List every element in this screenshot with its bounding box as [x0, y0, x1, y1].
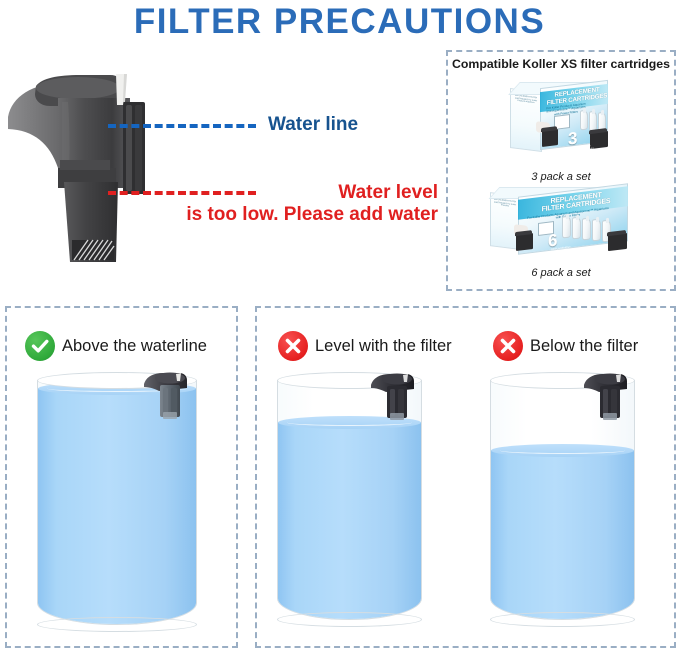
- incorrect-example-2-caption: Below the filter: [493, 331, 638, 361]
- cartridges-panel-heading: Compatible Koller XS filter cartridges: [448, 57, 674, 71]
- pack-item-3[interactable]: REPLACEMENT FILTER CARTRIDGES For Koller…: [448, 74, 674, 183]
- water-level-warning-line1: Water level: [338, 182, 438, 203]
- incorrect-example-2-label: Below the filter: [530, 337, 638, 356]
- cartridge-box-6: REPLACEMENT FILTER CARTRIDGES For Koller…: [486, 182, 636, 260]
- tank-water: [278, 422, 421, 620]
- tank-water-surface-line: [500, 447, 626, 454]
- compatible-cartridges-panel: Compatible Koller XS filter cartridges R…: [446, 50, 676, 291]
- tank-bottom: [490, 612, 635, 627]
- water-line-label: Water line: [268, 114, 358, 136]
- water-level-warning: Water level is too low. Please add water: [160, 182, 438, 226]
- tank-bottom: [277, 612, 422, 627]
- mini-filter-icon: [370, 369, 420, 436]
- incorrect-example-1-caption: Level with the filter: [278, 331, 452, 361]
- page-title: FILTER PRECAUTIONS: [0, 2, 679, 42]
- water-level-warning-line2: is too low. Please add water: [160, 204, 438, 226]
- precautions-infographic: FILTER PRECAUTIONS: [0, 0, 679, 655]
- cartridge-box-3: REPLACEMENT FILTER CARTRIDGES For Koller…: [506, 74, 616, 164]
- filter-illustration: [6, 72, 176, 267]
- tank-bottom: [37, 617, 197, 632]
- box3-count: 3: [568, 129, 577, 147]
- water-line-indicator: [108, 124, 256, 128]
- pack-6-caption: 6 pack a set: [448, 267, 674, 279]
- correct-example-label: Above the waterline: [62, 337, 207, 356]
- correct-example-caption: Above the waterline: [25, 331, 207, 361]
- pack-item-6[interactable]: REPLACEMENT FILTER CARTRIDGES For Koller…: [448, 182, 674, 279]
- cross-circle-icon: [493, 331, 523, 361]
- mini-filter-icon: [583, 369, 633, 436]
- tank-below-filter: [490, 380, 635, 620]
- incorrect-example-1-label: Level with the filter: [315, 337, 452, 356]
- mini-filter-icon: [143, 368, 193, 435]
- tank-level-with-filter: [277, 380, 422, 620]
- cross-circle-icon: [278, 331, 308, 361]
- tank-water: [491, 450, 634, 620]
- check-circle-icon: [25, 331, 55, 361]
- tank-above-waterline: [37, 380, 197, 625]
- hang-on-back-filter-icon: [6, 72, 176, 267]
